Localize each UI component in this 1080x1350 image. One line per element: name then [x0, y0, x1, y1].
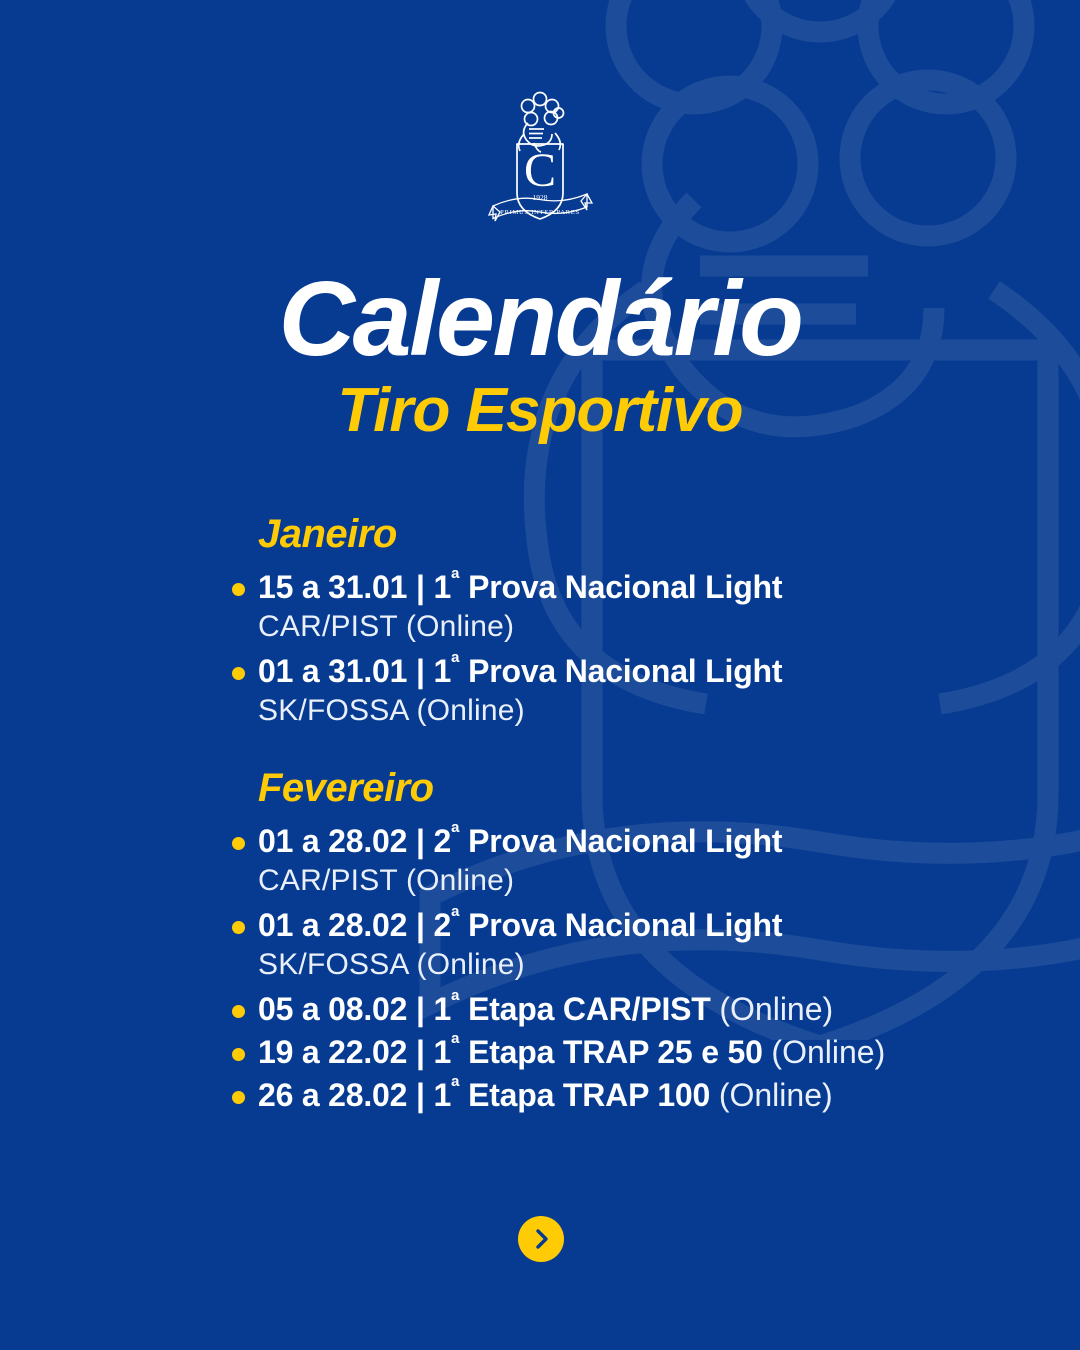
month-heading: Fevereiro	[258, 766, 1033, 811]
event-modality: (Online)	[771, 1034, 885, 1070]
brand-crest-logo: C 1928 PRIMUS INTER PARES	[0, 88, 1080, 228]
event-sub-line: CAR/PIST (Online)	[258, 861, 1033, 900]
page-subtitle: Tiro Esportivo	[0, 378, 1080, 443]
bullet-icon	[232, 837, 245, 850]
event-ordinal-number: 1	[433, 569, 451, 605]
event-ordinal-number: 2	[433, 823, 451, 859]
event-main-line: 05 a 08.02 | 1ª Etapa CAR/PIST (Online)	[258, 989, 1033, 1030]
event-title: Prova Nacional Light	[468, 907, 782, 943]
event-ordinal-suffix: ª	[451, 565, 459, 591]
event-ordinal-suffix: ª	[451, 649, 459, 675]
event-ordinal-suffix: ª	[451, 987, 459, 1013]
month-block: Janeiro15 a 31.01 | 1ª Prova Nacional Li…	[213, 512, 1033, 730]
event-dates: 05 a 08.02	[258, 991, 407, 1027]
event-item: 01 a 31.01 | 1ª Prova Nacional LightSK/F…	[213, 651, 1033, 730]
event-item: 01 a 28.02 | 2ª Prova Nacional LightCAR/…	[213, 821, 1033, 900]
event-separator: |	[416, 907, 425, 943]
event-item: 01 a 28.02 | 2ª Prova Nacional LightSK/F…	[213, 905, 1033, 984]
event-ordinal-suffix: ª	[451, 1073, 459, 1099]
bullet-icon	[232, 1005, 245, 1018]
event-dates: 15 a 31.01	[258, 569, 407, 605]
event-ordinal-number: 1	[433, 1077, 451, 1113]
event-ordinal-suffix: ª	[451, 903, 459, 929]
title-block: Calendário Tiro Esportivo	[0, 266, 1080, 443]
event-sub-line: CAR/PIST (Online)	[258, 607, 1033, 646]
event-title: Prova Nacional Light	[468, 569, 782, 605]
event-item: 26 a 28.02 | 1ª Etapa TRAP 100 (Online)	[213, 1075, 1033, 1116]
chevron-right-icon	[529, 1227, 553, 1251]
event-separator: |	[416, 1077, 425, 1113]
event-title: Etapa TRAP 100	[468, 1077, 710, 1113]
event-title: Prova Nacional Light	[468, 823, 782, 859]
event-separator: |	[416, 991, 425, 1027]
event-main-line: 15 a 31.01 | 1ª Prova Nacional Light	[258, 567, 1033, 608]
event-dates: 01 a 28.02	[258, 907, 407, 943]
poster-root: C 1928 PRIMUS INTER PARES Calendário Tir…	[0, 0, 1080, 1350]
event-separator: |	[416, 1034, 425, 1070]
event-ordinal-number: 1	[433, 653, 451, 689]
event-title: Prova Nacional Light	[468, 653, 782, 689]
event-modality: (Online)	[719, 1077, 833, 1113]
event-ordinal-number: 1	[433, 1034, 451, 1070]
event-item: 05 a 08.02 | 1ª Etapa CAR/PIST (Online)	[213, 989, 1033, 1030]
event-modality: (Online)	[719, 991, 833, 1027]
event-title: Etapa CAR/PIST	[468, 991, 711, 1027]
event-main-line: 01 a 28.02 | 2ª Prova Nacional Light	[258, 905, 1033, 946]
event-separator: |	[416, 823, 425, 859]
event-separator: |	[416, 653, 425, 689]
bullet-icon	[232, 1048, 245, 1061]
event-sub-line: SK/FOSSA (Online)	[258, 691, 1033, 730]
bullet-icon	[232, 921, 245, 934]
bullet-icon	[232, 583, 245, 596]
schedule-list: Janeiro15 a 31.01 | 1ª Prova Nacional Li…	[213, 512, 1033, 1126]
page-title: Calendário	[0, 266, 1080, 372]
event-main-line: 01 a 28.02 | 2ª Prova Nacional Light	[258, 821, 1033, 862]
month-heading: Janeiro	[258, 512, 1033, 557]
crest-motto: PRIMUS INTER PARES	[500, 209, 580, 216]
crest-letter: C	[524, 144, 556, 197]
event-title: Etapa TRAP 25 e 50	[468, 1034, 763, 1070]
bullet-icon	[232, 667, 245, 680]
event-dates: 19 a 22.02	[258, 1034, 407, 1070]
event-ordinal-suffix: ª	[451, 819, 459, 845]
crest-icon: C 1928 PRIMUS INTER PARES	[486, 88, 594, 228]
event-item: 19 a 22.02 | 1ª Etapa TRAP 25 e 50 (Onli…	[213, 1032, 1033, 1073]
event-main-line: 19 a 22.02 | 1ª Etapa TRAP 25 e 50 (Onli…	[258, 1032, 1033, 1073]
event-item: 15 a 31.01 | 1ª Prova Nacional LightCAR/…	[213, 567, 1033, 646]
event-separator: |	[416, 569, 425, 605]
month-block: Fevereiro01 a 28.02 | 2ª Prova Nacional …	[213, 766, 1033, 1116]
event-sub-line: SK/FOSSA (Online)	[258, 945, 1033, 984]
next-slide-button[interactable]	[518, 1216, 564, 1262]
event-dates: 01 a 28.02	[258, 823, 407, 859]
bullet-icon	[232, 1091, 245, 1104]
event-main-line: 01 a 31.01 | 1ª Prova Nacional Light	[258, 651, 1033, 692]
event-dates: 01 a 31.01	[258, 653, 407, 689]
event-ordinal-number: 2	[433, 907, 451, 943]
event-dates: 26 a 28.02	[258, 1077, 407, 1113]
event-ordinal-suffix: ª	[451, 1030, 459, 1056]
event-main-line: 26 a 28.02 | 1ª Etapa TRAP 100 (Online)	[258, 1075, 1033, 1116]
event-ordinal-number: 1	[433, 991, 451, 1027]
